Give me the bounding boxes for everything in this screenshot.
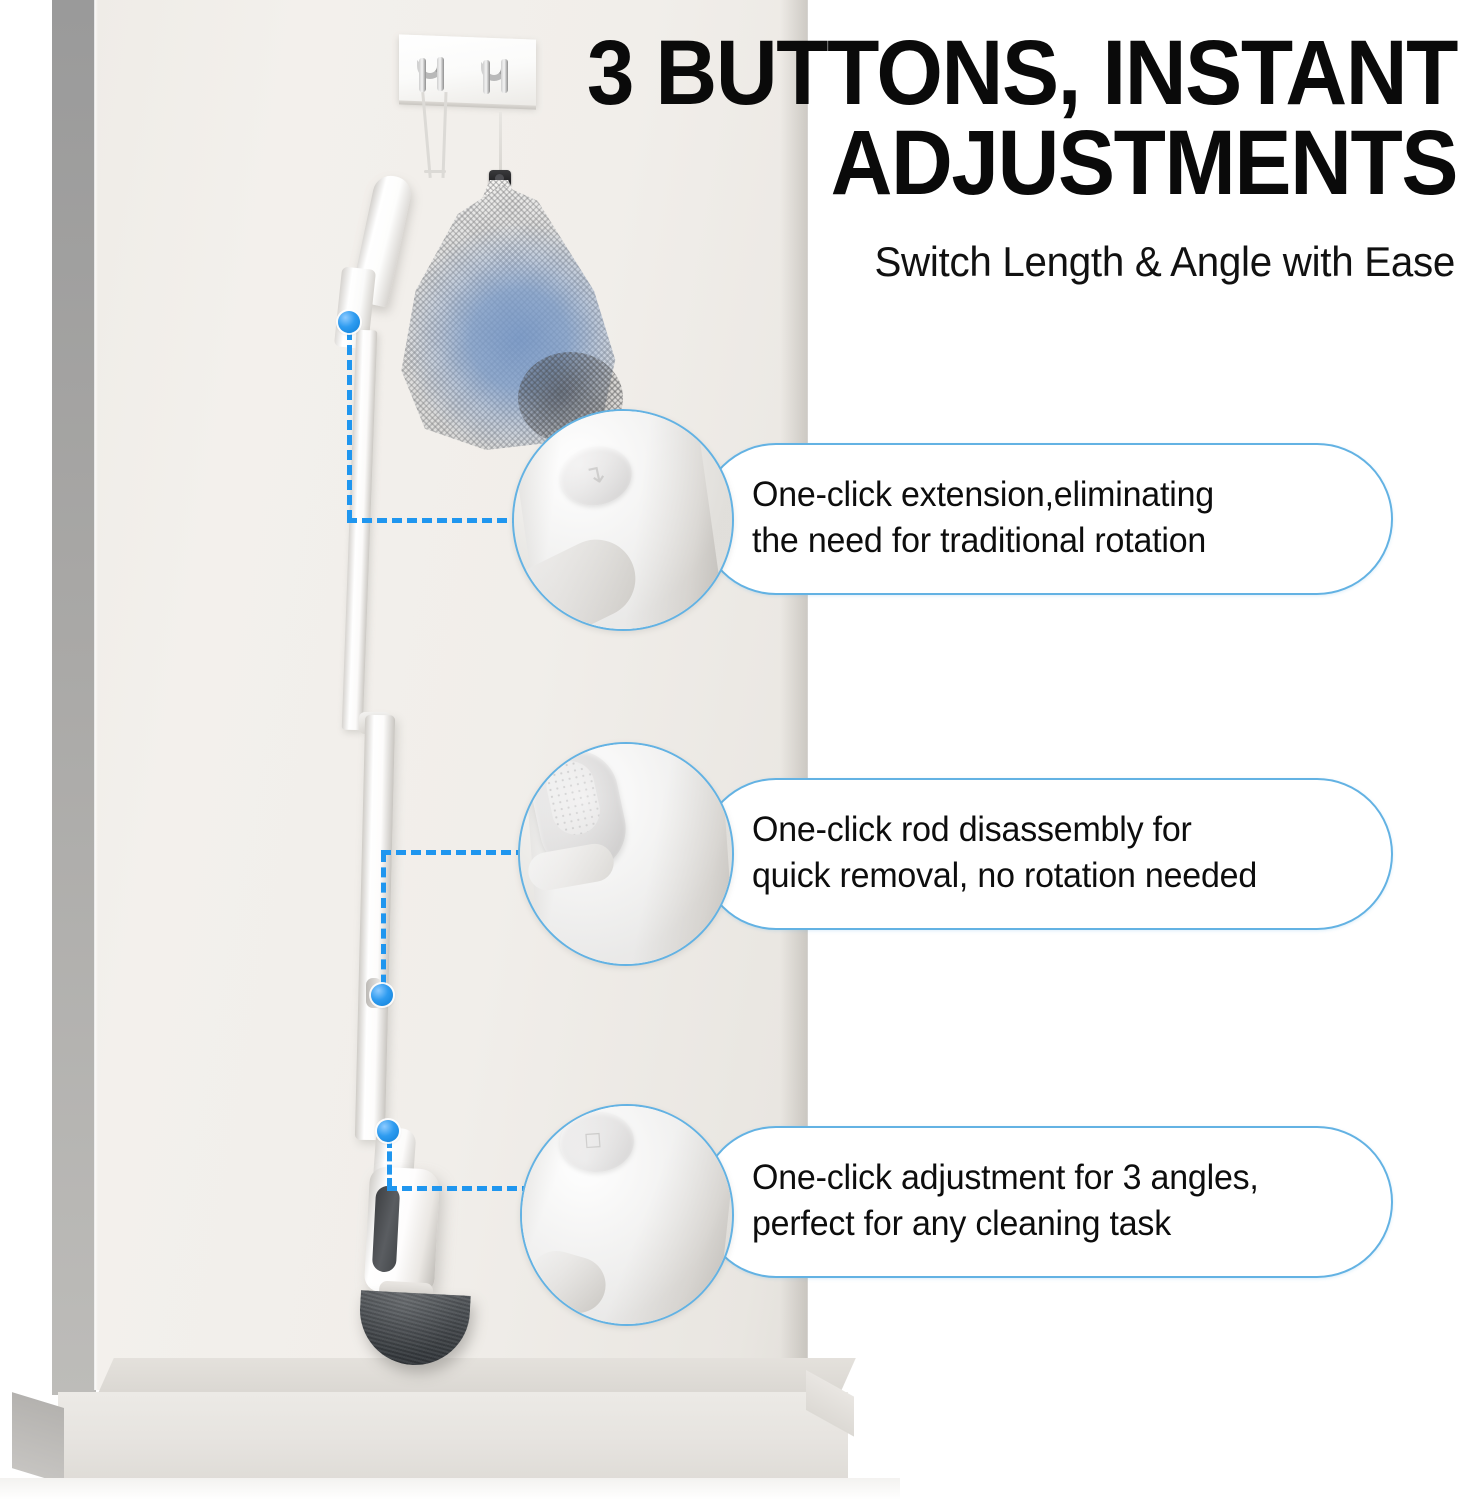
hook-left-post-b [437, 57, 444, 91]
leader-horizontal-2 [381, 850, 541, 855]
headline: 3 BUTTONS, INSTANT ADJUSTMENTS [583, 28, 1457, 208]
callout-disassembly-text: One-click rod disassembly for quick remo… [752, 807, 1344, 898]
subheadline: Switch Length & Angle with Ease [553, 238, 1455, 286]
inset-3-sheen [522, 1106, 732, 1324]
headline-line-2: ADJUSTMENTS [583, 118, 1457, 208]
hanging-loop-bottom [424, 170, 446, 173]
leader-horizontal-1 [347, 518, 537, 523]
wall-edge-highlight [94, 0, 98, 1390]
inset-1-sheen [514, 411, 732, 629]
leader-vertical-3 [387, 1138, 392, 1188]
leader-vertical-1 [347, 330, 352, 520]
rod-release-button-closeup [518, 742, 734, 966]
baseboard-left [12, 1392, 64, 1484]
joint-marker-angle [377, 1120, 399, 1142]
joint-marker-disassembly [371, 984, 393, 1006]
callout-angle-text: One-click adjustment for 3 angles, perfe… [752, 1155, 1353, 1246]
inset-2-sheen [520, 744, 732, 964]
extension-button-closeup: ↴ [512, 409, 734, 631]
mop-battery-panel [372, 1185, 400, 1272]
baseboard-front [58, 1392, 848, 1484]
hook-right-post-a [483, 60, 490, 94]
hook-right-post-b [501, 59, 508, 93]
wall-side-face [52, 0, 96, 1395]
leader-vertical-2 [381, 852, 386, 1000]
angle-button-closeup: ◻ [520, 1104, 734, 1326]
floor [0, 1478, 900, 1500]
hook-left-post-a [419, 58, 426, 92]
callout-extension-text: One-click extension,eliminating the need… [752, 472, 1334, 563]
joint-marker-extension [338, 311, 360, 333]
headline-line-1: 3 BUTTONS, INSTANT [587, 22, 1457, 124]
